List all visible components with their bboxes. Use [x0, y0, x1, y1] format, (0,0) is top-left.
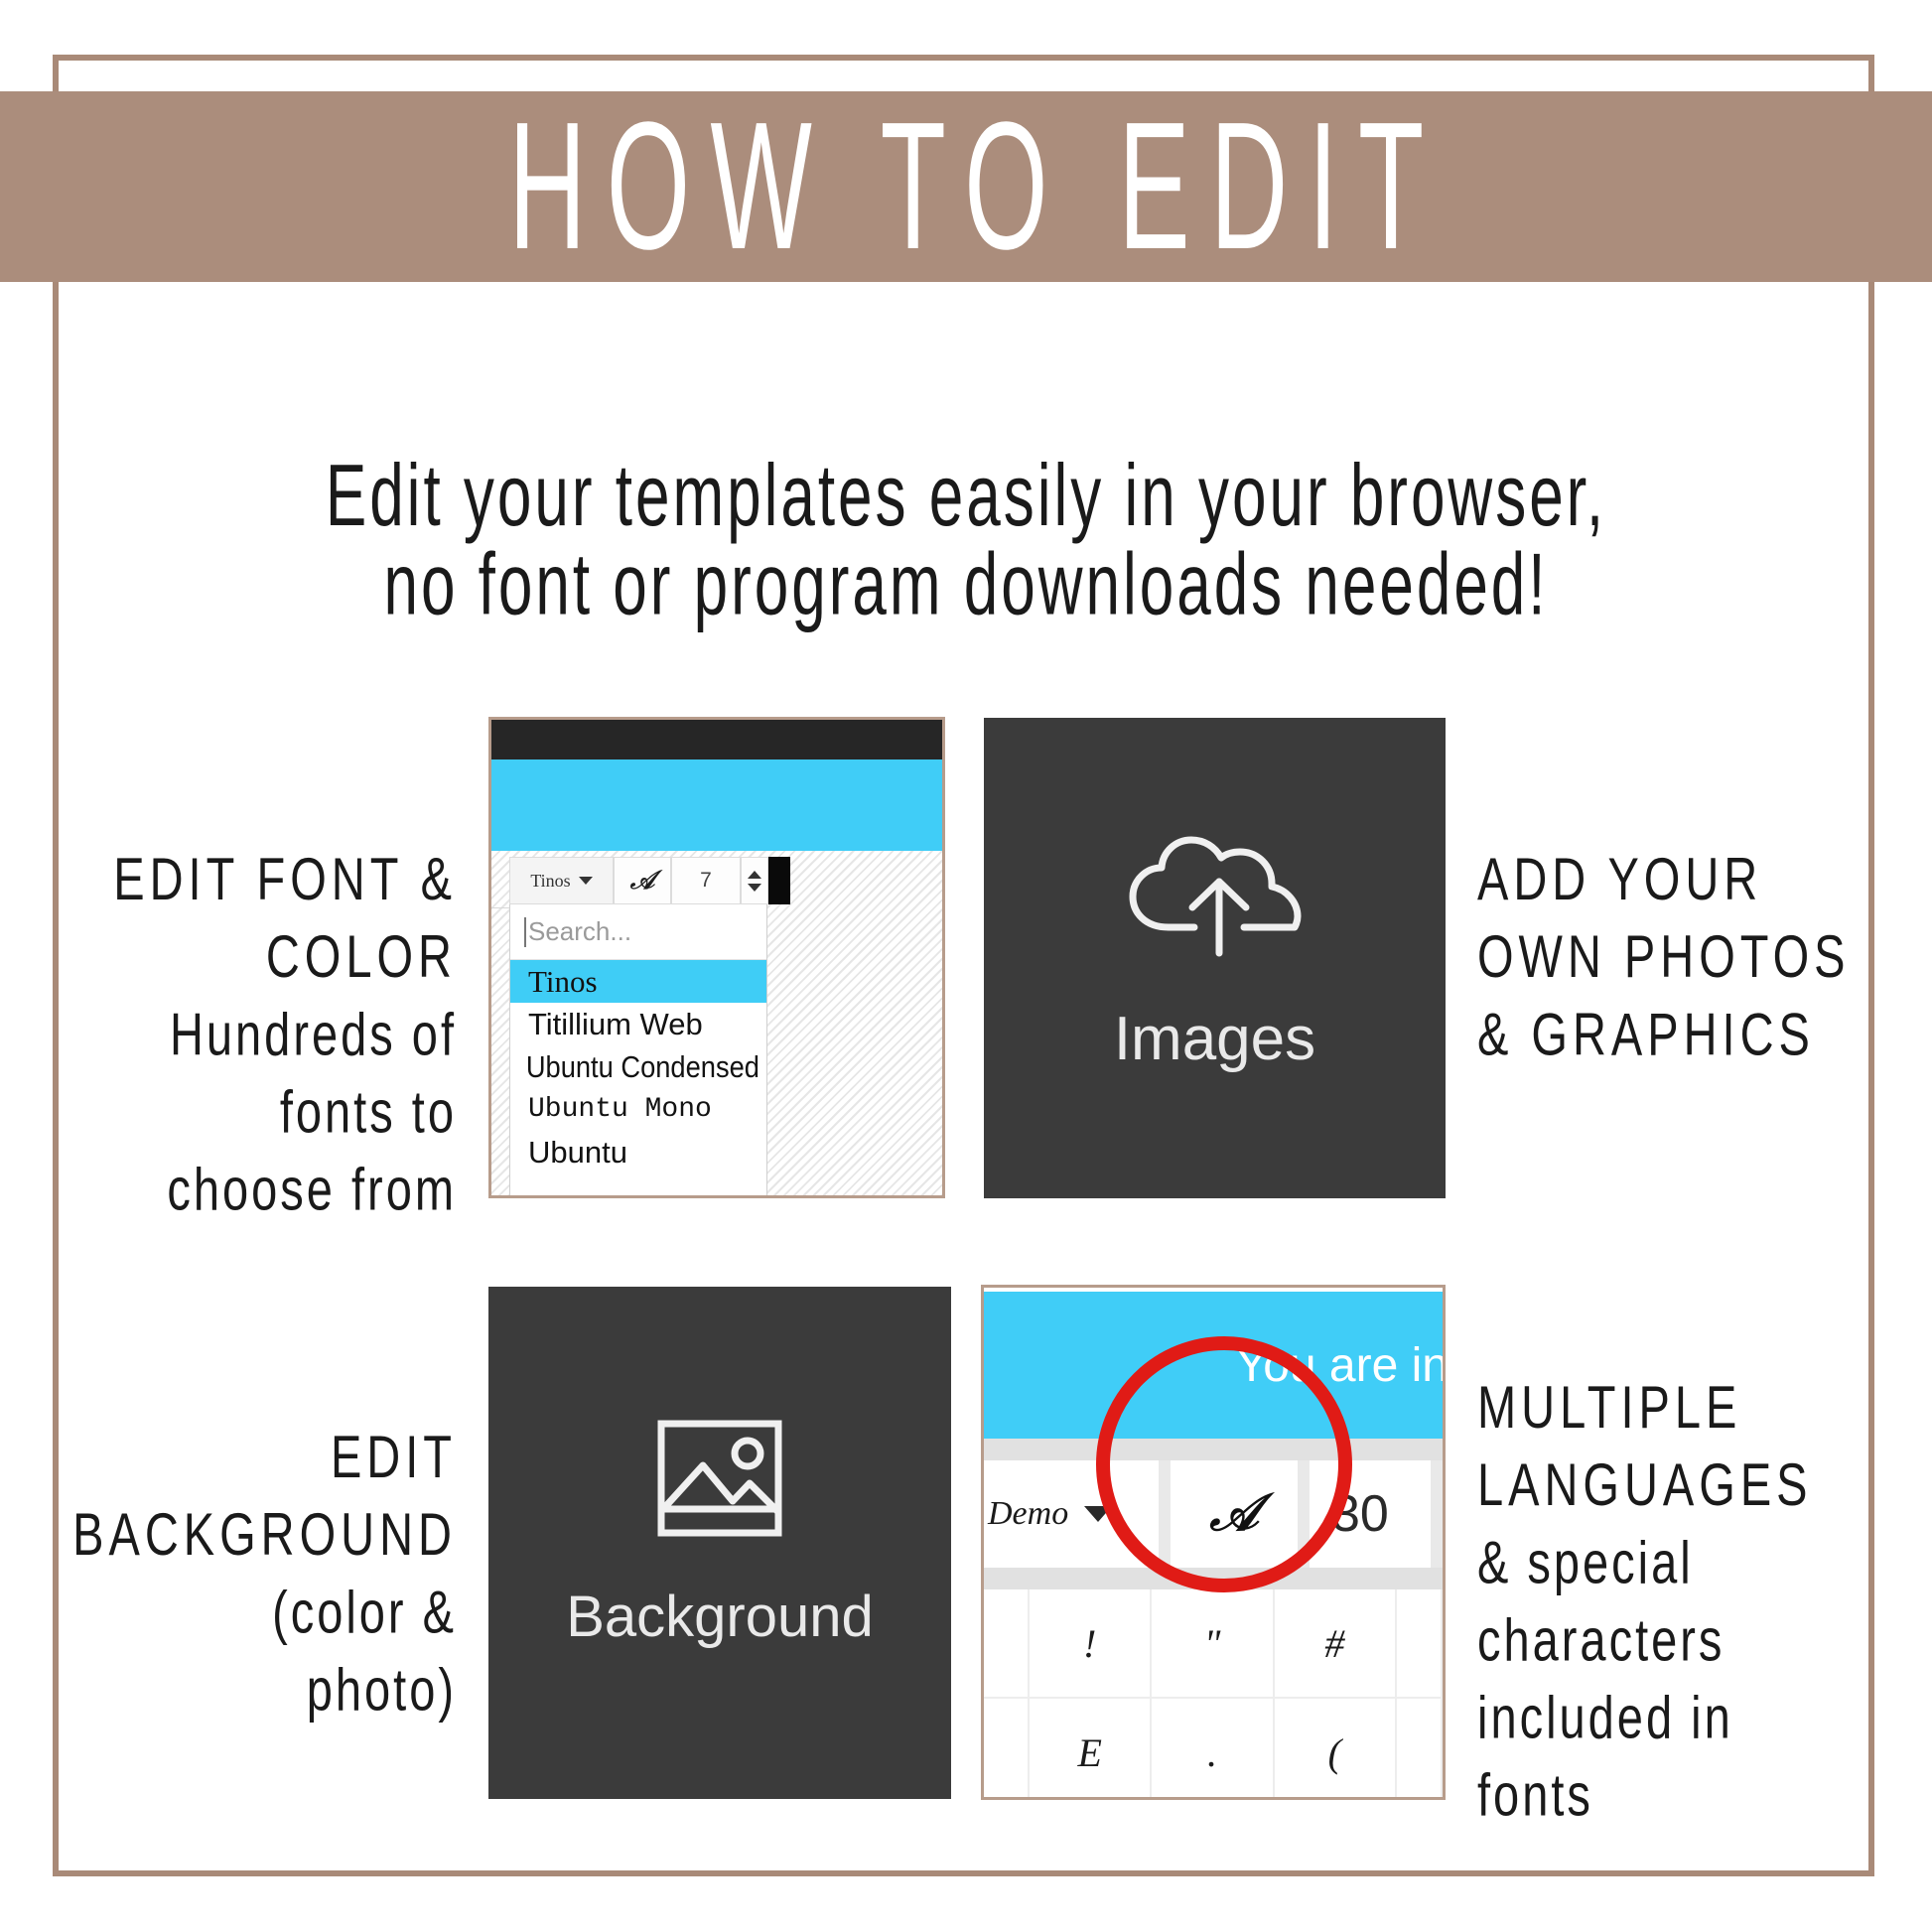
- character-key-paren[interactable]: (: [1275, 1699, 1397, 1800]
- page-title: HOW TO EDIT: [488, 96, 1445, 278]
- caption-lang-heading-2: LANGUAGES: [1477, 1446, 1932, 1523]
- caption-font-body-3: choose from: [30, 1151, 457, 1228]
- caption-bg-heading-2: BACKGROUND: [10, 1495, 457, 1573]
- subtitle-line-2: no font or program downloads needed!: [89, 541, 1843, 630]
- caption-font-body-2: fonts to: [30, 1073, 457, 1151]
- caption-add-photos: ADD YOUR OWN PHOTOS & GRAPHICS: [1477, 840, 1932, 1073]
- font-option-ubuntu[interactable]: Ubuntu: [510, 1131, 766, 1173]
- background-panel[interactable]: Background: [488, 1287, 951, 1799]
- font-option-titillium-web[interactable]: Titillium Web: [510, 1003, 766, 1045]
- caption-bg-heading-1: EDIT: [10, 1418, 457, 1495]
- font-search-placeholder: Search...: [528, 916, 631, 947]
- caption-font-heading-1: EDIT FONT &: [30, 840, 457, 917]
- highlight-circle-annotation: [1096, 1336, 1352, 1592]
- font-toolbar: Tinos 𝒜 7: [509, 857, 790, 904]
- font-family-dropdown-list[interactable]: Search... Tinos Titillium Web Ubuntu Con…: [509, 904, 767, 1198]
- font-size-value: 7: [700, 869, 712, 893]
- caption-edit-background: EDIT BACKGROUND (color & photo): [10, 1418, 457, 1728]
- font-family-value: Demo: [988, 1495, 1068, 1533]
- background-panel-label: Background: [566, 1584, 874, 1650]
- font-option-tinos[interactable]: Tinos: [510, 960, 766, 1003]
- editor-top-bar: [491, 720, 942, 759]
- caption-font-body-1: Hundreds of: [30, 995, 457, 1072]
- caption-lang-body-3: included in: [1477, 1679, 1932, 1756]
- character-key-spacer[interactable]: [984, 1589, 1030, 1697]
- character-row: ! " #: [984, 1589, 1443, 1699]
- caption-bg-body-2: photo): [10, 1651, 457, 1728]
- special-characters-screenshot: You are in Demo 𝒜 30 ! " # E . (: [981, 1285, 1446, 1800]
- character-key-spacer[interactable]: [984, 1699, 1030, 1800]
- font-family-value: Tinos: [530, 871, 570, 892]
- caption-lang-body-2: characters: [1477, 1601, 1932, 1679]
- script-a-icon: 𝒜: [630, 866, 655, 897]
- stepper-up-icon[interactable]: [748, 871, 761, 879]
- character-key-spacer-right[interactable]: [1397, 1699, 1443, 1800]
- caption-images-line-2: OWN PHOTOS: [1477, 917, 1932, 995]
- script-style-button[interactable]: 𝒜: [614, 857, 671, 904]
- caption-bg-body-1: (color &: [10, 1573, 457, 1650]
- font-option-partial[interactable]: [510, 1173, 766, 1191]
- subtitle-text: Edit your templates easily in your brows…: [89, 452, 1843, 630]
- caption-font-heading-2: COLOR: [30, 917, 457, 995]
- character-key-hash[interactable]: #: [1275, 1589, 1397, 1697]
- images-panel[interactable]: Images: [984, 718, 1446, 1198]
- font-option-ubuntu-condensed[interactable]: Ubuntu Condensed: [510, 1045, 736, 1088]
- chevron-down-icon: [579, 877, 593, 885]
- text-caret: [524, 917, 526, 947]
- character-key-quote[interactable]: ": [1152, 1589, 1274, 1697]
- font-editor-screenshot: Tinos 𝒜 7 Search... Tinos Titillium Web …: [488, 717, 945, 1198]
- caption-images-line-3: & GRAPHICS: [1477, 995, 1932, 1072]
- font-search-field[interactable]: Search...: [510, 904, 766, 960]
- font-size-input[interactable]: 7: [671, 857, 741, 904]
- caption-lang-heading-1: MULTIPLE: [1477, 1368, 1932, 1446]
- font-family-dropdown[interactable]: Tinos: [509, 857, 614, 904]
- character-key-exclam[interactable]: !: [1030, 1589, 1152, 1697]
- header-banner: HOW TO EDIT: [0, 91, 1932, 282]
- caption-edit-font-color: EDIT FONT & COLOR Hundreds of fonts to c…: [30, 840, 457, 1228]
- character-key-period[interactable]: .: [1152, 1699, 1274, 1800]
- subtitle-line-1: Edit your templates easily in your brows…: [326, 448, 1606, 545]
- caption-images-line-1: ADD YOUR: [1477, 840, 1932, 917]
- caption-lang-body-1: & special: [1477, 1523, 1932, 1600]
- images-panel-label: Images: [1114, 1004, 1315, 1074]
- picture-icon: [655, 1418, 784, 1544]
- character-key-e[interactable]: E: [1030, 1699, 1152, 1800]
- character-row: E . (: [984, 1699, 1443, 1800]
- stepper-down-icon[interactable]: [748, 884, 761, 892]
- editor-blue-band: [491, 759, 942, 851]
- caption-lang-body-4: fonts: [1477, 1756, 1932, 1834]
- character-grid: ! " # E . (: [984, 1589, 1443, 1800]
- caption-multiple-languages: MULTIPLE LANGUAGES & special characters …: [1477, 1368, 1932, 1834]
- font-size-stepper[interactable]: [741, 857, 768, 904]
- cloud-upload-icon: [1121, 816, 1310, 970]
- character-key-spacer-right[interactable]: [1397, 1589, 1443, 1697]
- color-swatch-button[interactable]: [768, 857, 790, 904]
- font-option-ubuntu-mono[interactable]: Ubuntu Mono: [510, 1088, 766, 1131]
